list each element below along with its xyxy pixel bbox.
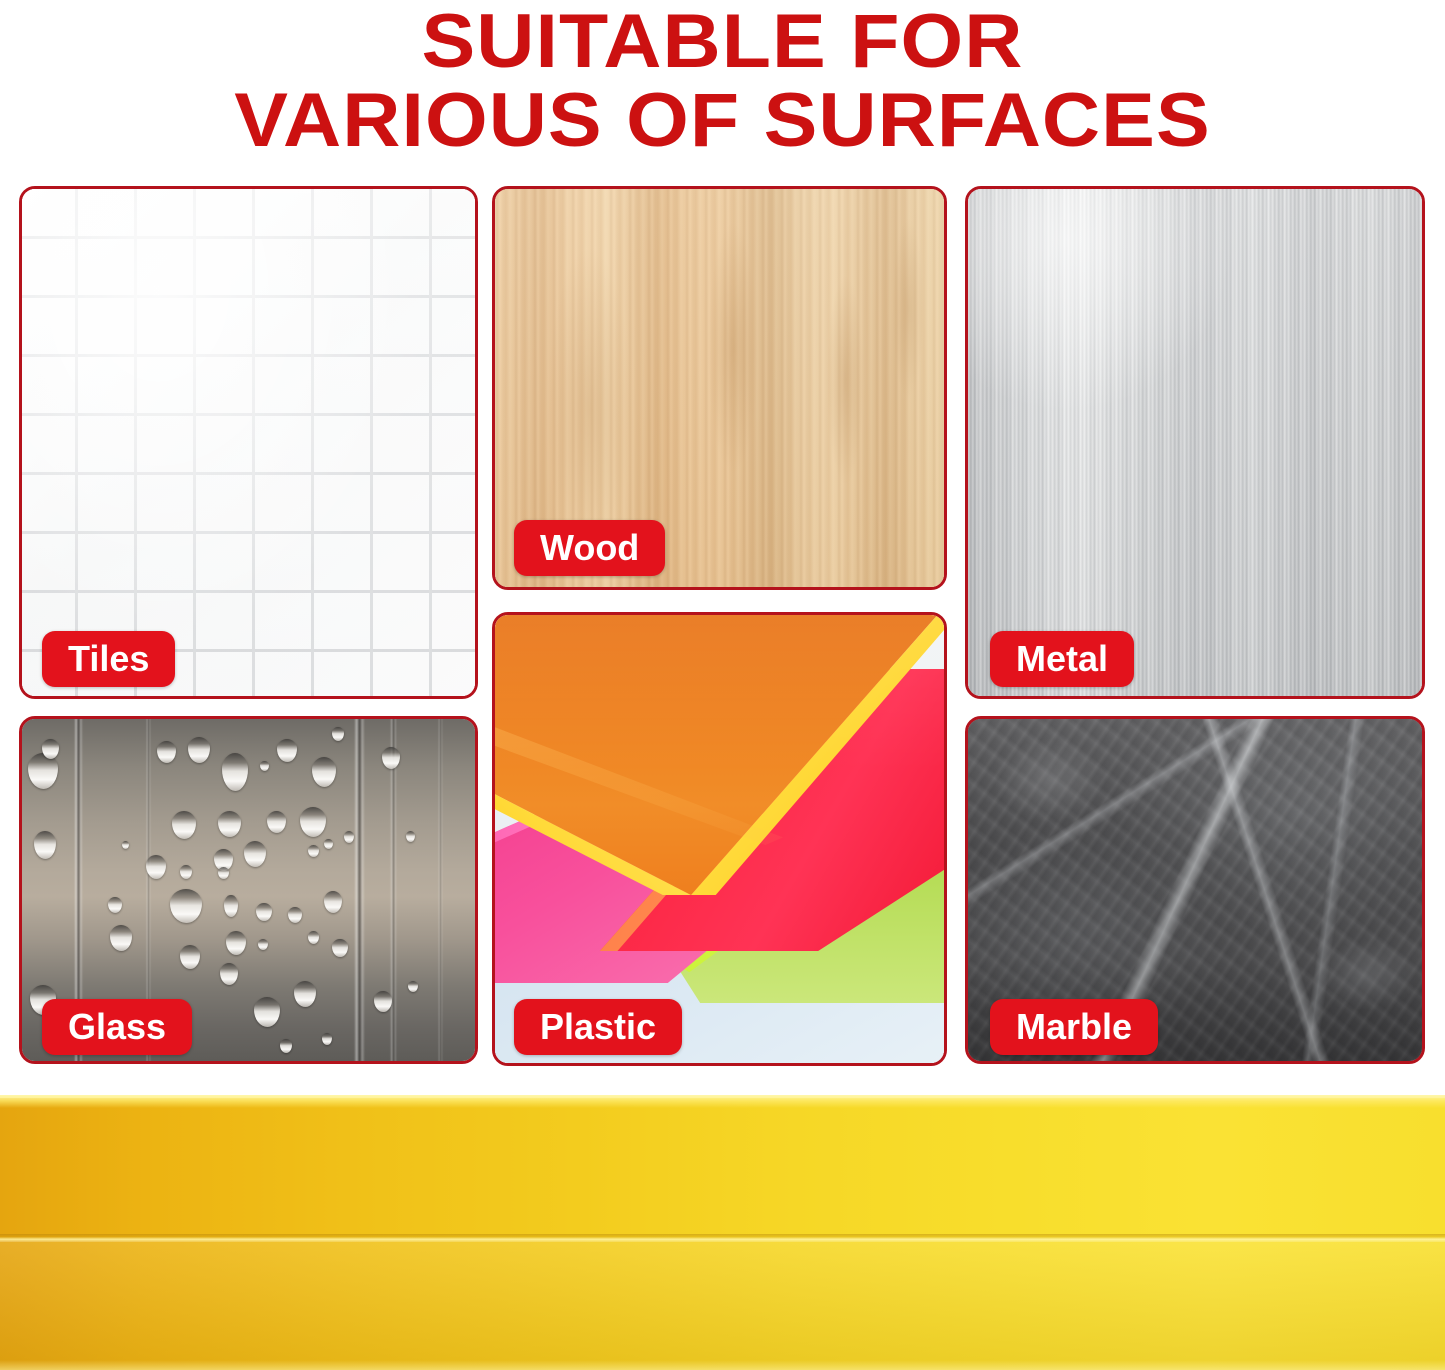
surface-label-glass: Glass [42,999,192,1055]
surface-label-tiles: Tiles [42,631,175,687]
page-title: SUITABLE FOR VARIOUS OF SURFACES [0,2,1445,160]
blade-lower-face [0,1242,1445,1370]
surface-label-metal: Metal [990,631,1134,687]
page-title-line-1: SUITABLE FOR [0,2,1445,81]
surface-card-tiles [19,186,478,699]
tiles-texture [22,189,475,696]
surface-label-marble: Marble [990,999,1158,1055]
surface-label-plastic: Plastic [514,999,682,1055]
plastic-texture [495,615,944,1063]
yellow-squeegee-blade [0,1095,1445,1370]
blade-groove-line [0,1234,1445,1242]
surface-card-metal [965,186,1425,699]
surface-card-plastic [492,612,947,1066]
metal-texture [968,189,1422,696]
page-title-line-2: VARIOUS OF SURFACES [0,81,1445,160]
blade-top-highlight [0,1095,1445,1108]
blade-bottom-edge [0,1360,1445,1370]
surface-label-wood: Wood [514,520,665,576]
